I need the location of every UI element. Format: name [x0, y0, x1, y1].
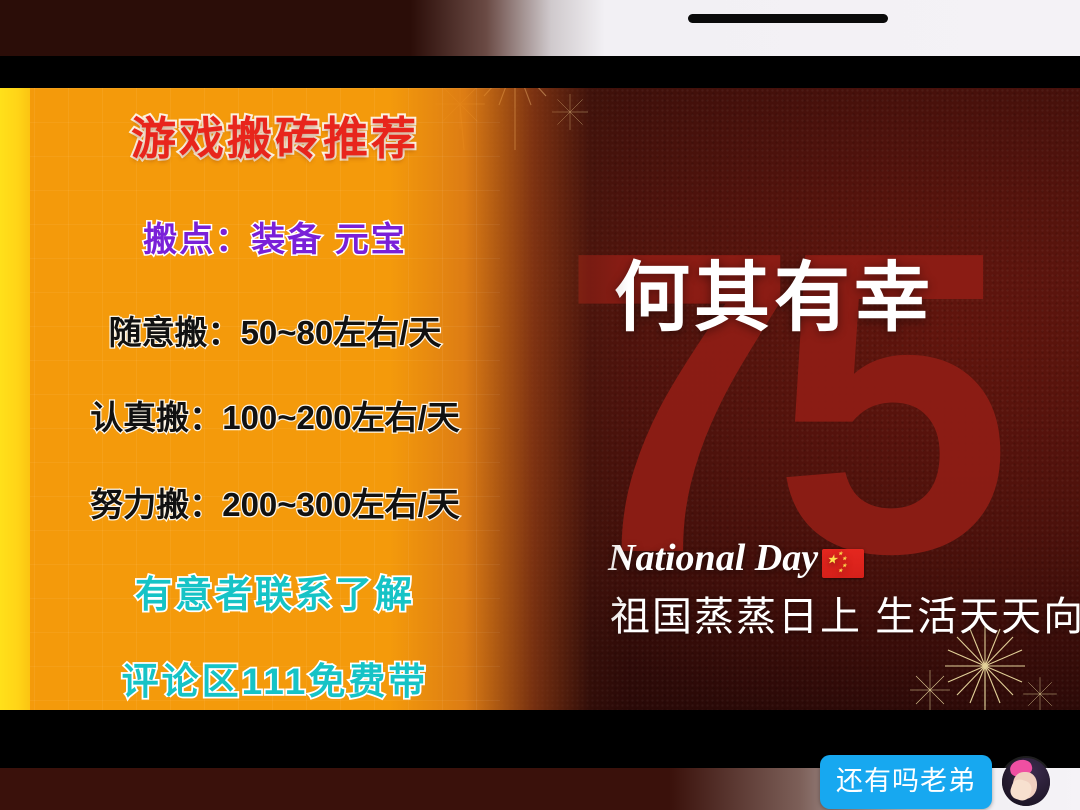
- china-flag-icon: ★★★★★: [822, 549, 864, 578]
- flag-star-large: ★: [827, 555, 837, 566]
- screenshot-stage: 75: [0, 0, 1080, 810]
- promo-row-hard: 努力搬：200~300左右/天: [30, 478, 520, 526]
- national-day-headline: 何其有幸: [614, 256, 1064, 342]
- promo-row-serious: 认真搬：100~200左右/天: [30, 391, 520, 439]
- user-avatar[interactable]: [1002, 758, 1050, 806]
- top-chrome-strip: [0, 0, 1080, 56]
- flag-star-4: ★: [838, 569, 842, 574]
- promo-content: 游戏搬砖推荐 搬点：装备 元宝 随意搬：50~80左右/天 认真搬：100~20…: [30, 88, 520, 710]
- flag-star-2: ★: [842, 557, 846, 562]
- drag-handle-icon[interactable]: [688, 14, 888, 23]
- chat-overlay: 还有吗老弟: [820, 755, 1050, 809]
- promo-cta-contact: 有意者联系了解: [30, 564, 520, 618]
- promo-card: 游戏搬砖推荐 搬点：装备 元宝 随意搬：50~80左右/天 认真搬：100~20…: [0, 88, 628, 710]
- promo-subtitle: 搬点：装备 元宝: [30, 212, 520, 261]
- promo-left-edge: [0, 88, 30, 710]
- video-frame[interactable]: 75: [0, 88, 1080, 710]
- chat-bubble[interactable]: 还有吗老弟: [820, 755, 992, 809]
- promo-title: 游戏搬砖推荐: [30, 102, 520, 167]
- national-day-english-label: National Day★★★★★: [608, 536, 1038, 580]
- promo-cta-comment: 评论区111免费带: [30, 651, 520, 705]
- national-day-slogan: 祖国蒸蒸日上 生活天天向上: [610, 584, 1080, 642]
- letterbox-top: [0, 56, 1080, 88]
- national-day-english-text: National Day: [608, 537, 818, 579]
- promo-row-casual: 随意搬：50~80左右/天: [30, 306, 520, 354]
